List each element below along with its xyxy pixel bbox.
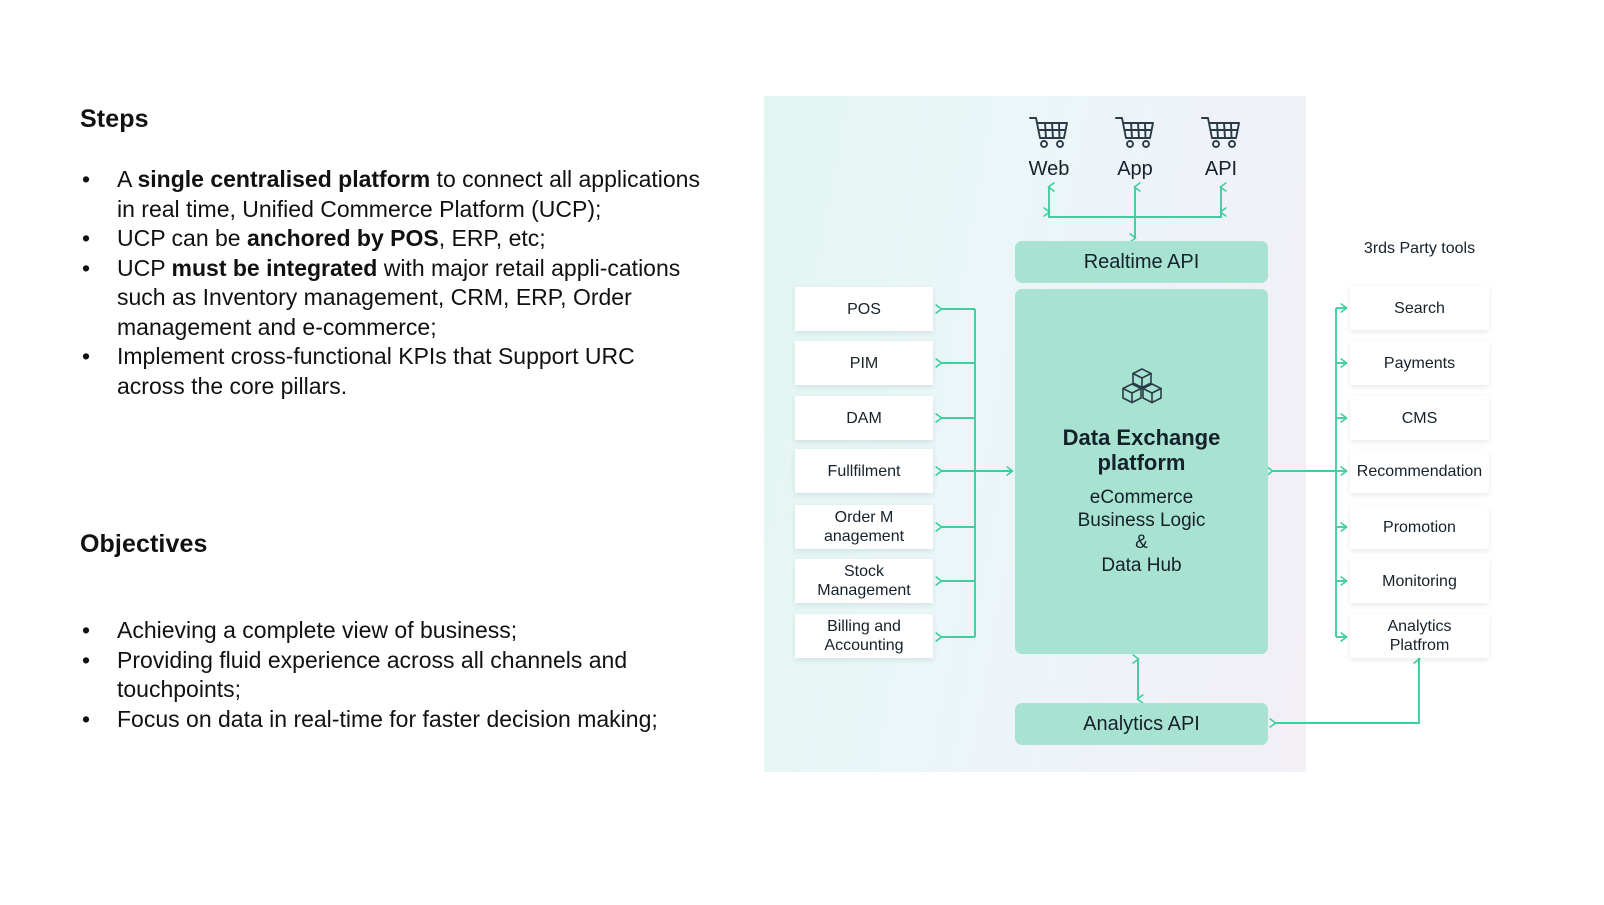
internal-system-box[interactable]: Order Management	[795, 505, 933, 549]
platform-title-line2: platform	[1097, 450, 1185, 475]
shopping-cart-icon	[1181, 113, 1261, 155]
channel-web[interactable]: Web	[1009, 113, 1089, 180]
cubes-icon	[1119, 366, 1165, 411]
analytics-api-label: Analytics API	[1083, 713, 1200, 736]
bullet-item: •Focus on data in real-time for faster d…	[80, 705, 700, 735]
bullet-text: Providing fluid experience across all ch…	[117, 647, 627, 703]
platform-subtitle: eCommerce Business Logic & Data Hub	[1078, 487, 1206, 577]
third-party-tool-box[interactable]: CMS	[1350, 396, 1489, 440]
internal-system-label: Billing andAccounting	[824, 617, 903, 655]
platform-sub-line2: Business Logic	[1078, 510, 1206, 531]
bullet-text: UCP	[117, 255, 172, 281]
platform-title: Data Exchange platform	[1063, 425, 1221, 475]
bullet-text: Achieving a complete view of business;	[117, 617, 517, 643]
bullet-item: •Providing fluid experience across all c…	[80, 646, 700, 705]
internal-system-label: PIM	[850, 354, 878, 373]
bullet-item: •Implement cross-functional KPIs that Su…	[80, 342, 700, 401]
objectives-bullet-list: •Achieving a complete view of business;•…	[80, 616, 700, 734]
third-party-tool-box[interactable]: AnalyticsPlatfrom	[1350, 614, 1489, 658]
channel-api[interactable]: API	[1181, 113, 1261, 180]
realtime-api-box[interactable]: Realtime API	[1015, 241, 1268, 283]
realtime-api-label: Realtime API	[1084, 251, 1200, 274]
bullet-text: , ERP, etc;	[439, 225, 546, 251]
data-exchange-platform-box[interactable]: Data Exchange platform eCommerce Busines…	[1015, 289, 1268, 654]
third-party-tool-label: AnalyticsPlatfrom	[1387, 617, 1451, 655]
bullet-emphasis: must be integrated	[172, 255, 378, 281]
bullet-text: UCP can be	[117, 225, 247, 251]
shopping-cart-icon	[1095, 113, 1175, 155]
bullet-item: •A single centralised platform to connec…	[80, 165, 700, 224]
internal-system-label: StockManagement	[817, 562, 910, 600]
third-party-tool-label: CMS	[1402, 409, 1438, 428]
bullet-item: •UCP must be integrated with major retai…	[80, 254, 700, 343]
bullet-marker: •	[82, 224, 90, 254]
third-party-tool-label: Search	[1394, 299, 1445, 318]
internal-system-box[interactable]: Billing andAccounting	[795, 614, 933, 658]
internal-system-box[interactable]: DAM	[795, 396, 933, 440]
internal-system-box[interactable]: POS	[795, 287, 933, 331]
third-party-tool-box[interactable]: Payments	[1350, 341, 1489, 385]
bullet-item: •Achieving a complete view of business;	[80, 616, 700, 646]
platform-sub-line4: Data Hub	[1101, 555, 1181, 576]
bullet-marker: •	[82, 342, 90, 372]
bullet-marker: •	[82, 646, 90, 676]
internal-system-box[interactable]: Fullfilment	[795, 449, 933, 493]
internal-system-label: DAM	[846, 409, 882, 428]
steps-bullet-list: •A single centralised platform to connec…	[80, 165, 700, 401]
analytics-api-box[interactable]: Analytics API	[1015, 703, 1268, 745]
third-party-tool-box[interactable]: Monitoring	[1350, 559, 1489, 603]
third-party-tool-label: Promotion	[1383, 518, 1456, 537]
channel-label: Web	[1009, 158, 1089, 180]
channel-label: API	[1181, 158, 1261, 180]
bullet-marker: •	[82, 165, 90, 195]
platform-title-line1: Data Exchange	[1063, 425, 1221, 450]
bullet-text: Focus on data in real-time for faster de…	[117, 706, 658, 732]
shopping-cart-icon	[1009, 113, 1089, 155]
bullet-emphasis: single centralised platform	[137, 166, 430, 192]
platform-sub-line3: &	[1135, 532, 1148, 553]
internal-system-label: Order Management	[824, 508, 904, 546]
third-party-tool-box[interactable]: Promotion	[1350, 505, 1489, 549]
third-party-tool-box[interactable]: Search	[1350, 286, 1489, 330]
third-party-heading: 3rds Party tools	[1350, 240, 1489, 258]
internal-system-box[interactable]: PIM	[795, 341, 933, 385]
internal-system-box[interactable]: StockManagement	[795, 559, 933, 603]
third-party-tool-label: Recommendation	[1357, 462, 1482, 481]
internal-system-label: POS	[847, 300, 881, 319]
slide-canvas: Steps •A single centralised platform to …	[0, 0, 1604, 905]
platform-sub-line1: eCommerce	[1090, 487, 1193, 508]
bullet-text: A	[117, 166, 137, 192]
bullet-marker: •	[82, 705, 90, 735]
steps-heading: Steps	[80, 105, 700, 134]
channel-app[interactable]: App	[1095, 113, 1175, 180]
bullet-marker: •	[82, 254, 90, 284]
channel-label: App	[1095, 158, 1175, 180]
objectives-heading: Objectives	[80, 530, 207, 559]
third-party-tool-label: Payments	[1384, 354, 1455, 373]
third-party-tool-box[interactable]: Recommendation	[1350, 449, 1489, 493]
content-column: Steps •A single centralised platform to …	[80, 105, 700, 401]
bullet-text: Implement cross-functional KPIs that Sup…	[117, 343, 635, 399]
bullet-marker: •	[82, 616, 90, 646]
internal-system-label: Fullfilment	[828, 462, 901, 481]
bullet-emphasis: anchored by POS	[247, 225, 439, 251]
bullet-item: •UCP can be anchored by POS, ERP, etc;	[80, 224, 700, 254]
third-party-tool-label: Monitoring	[1382, 572, 1457, 591]
